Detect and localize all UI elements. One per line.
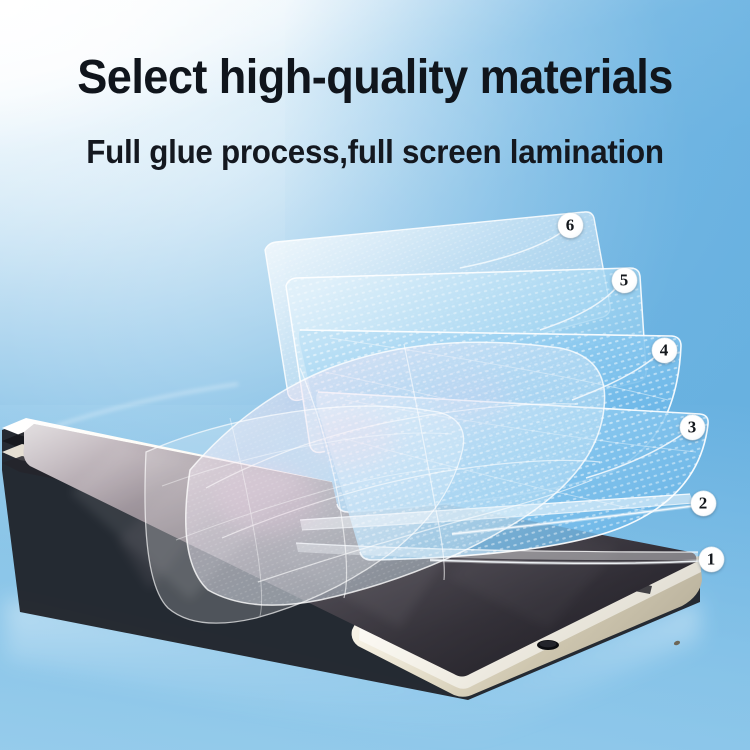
callout-6: 6 <box>558 213 583 238</box>
page-title: Select high-quality materials <box>23 53 728 104</box>
callout-4-number: 4 <box>660 341 669 358</box>
callout-2-number: 2 <box>699 494 708 511</box>
callout-3: 3 <box>680 415 705 440</box>
phone-camera-lens <box>540 641 557 648</box>
page-subtitle: Full glue process,full screen lamination <box>19 134 732 170</box>
callout-5-number: 5 <box>620 271 629 288</box>
callout-1-number: 1 <box>707 550 716 567</box>
callout-2: 2 <box>691 491 716 516</box>
callout-4: 4 <box>652 338 677 363</box>
film-top-highlight <box>56 384 238 426</box>
product-image-canvas: Select high-quality materials Full glue … <box>0 0 750 750</box>
callout-1: 1 <box>699 547 724 572</box>
callout-5: 5 <box>612 268 637 293</box>
callout-6-number: 6 <box>566 216 575 233</box>
callout-3-number: 3 <box>688 418 697 435</box>
screen-protector-illustration <box>0 0 750 750</box>
